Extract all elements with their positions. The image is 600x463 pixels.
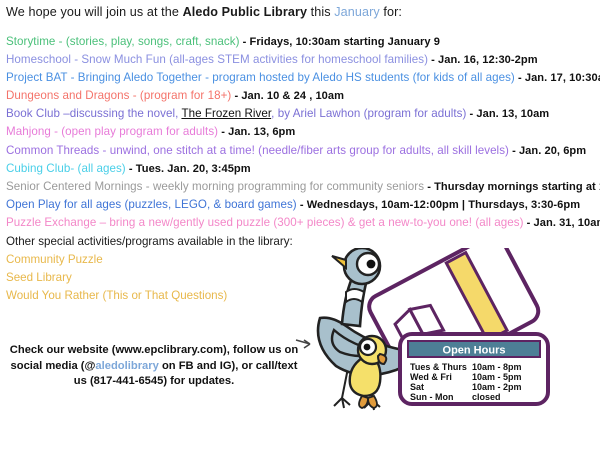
- program-detail: - Wednesdays, 10am-12:00pm | Thursdays, …: [297, 199, 580, 211]
- other-activity-item: Seed Library: [6, 269, 336, 287]
- program-row: Dungeons and Dragons - (program for 18+)…: [6, 87, 600, 105]
- hours-time-2: 10am - 2pm: [472, 382, 522, 392]
- hours-day-2: Sat: [410, 382, 424, 392]
- hours-time-1: 10am - 5pm: [472, 372, 522, 382]
- program-detail: - Jan. 13, 6pm: [218, 126, 295, 138]
- program-title: Project BAT - Bringing Aledo Together - …: [6, 71, 515, 84]
- other-activity-item: Community Puzzle: [6, 251, 336, 269]
- program-row: Storytime - (stories, play, songs, craft…: [6, 33, 600, 51]
- intro-month: January: [334, 5, 380, 19]
- program-title-post: , by Ariel Lawhon (program for adults): [271, 107, 466, 120]
- footer-line-2: social media (@aledolibrary on FB and IG…: [4, 359, 304, 375]
- pigeon-beak: [332, 256, 346, 268]
- intro-after: for:: [380, 5, 402, 19]
- program-title: Cubing Club- (all ages): [6, 162, 126, 175]
- program-row: Project BAT - Bringing Aledo Together - …: [6, 69, 600, 87]
- hours-header-label: Open Hours: [443, 345, 506, 357]
- hours-time-3: closed: [472, 392, 501, 402]
- program-detail: - Fridays, 10:30am starting January 9: [239, 36, 439, 48]
- footer-line2-pre: social media (@: [11, 360, 96, 372]
- library-name: Aledo Public Library: [183, 5, 307, 19]
- hours-day-0: Tues & Thurs: [410, 362, 467, 372]
- intro-before: We hope you will join us at the: [6, 5, 183, 19]
- footer-line-1: Check our website (www.epclibrary.com), …: [4, 343, 304, 359]
- program-row: Book Club –discussing the novel, The Fro…: [6, 105, 600, 123]
- program-title: Mahjong - (open play program for adults): [6, 125, 218, 138]
- program-detail: - Jan. 16, 12:30-2pm: [428, 54, 538, 66]
- footer-line-3: us (817-441-6545) for updates.: [4, 374, 304, 390]
- library-card-and-birds-illustration: Open Hours Tues & Thurs 10am - 8pm Wed &…: [290, 248, 600, 438]
- program-title-pre: Book Club –discussing the novel,: [6, 107, 181, 120]
- hours-day-3: Sun - Mon: [410, 392, 454, 402]
- program-row: Open Play for all ages (puzzles, LEGO, &…: [6, 196, 600, 214]
- program-detail: - Jan. 17, 10:30am: [515, 72, 600, 84]
- open-hours-panel: Open Hours Tues & Thurs 10am - 8pm Wed &…: [400, 334, 548, 404]
- program-row: Cubing Club- (all ages) - Tues. Jan. 20,…: [6, 160, 600, 178]
- pointer-arrow-icon: [296, 340, 310, 348]
- program-row: Mahjong - (open play program for adults)…: [6, 123, 600, 141]
- program-title: Puzzle Exchange – bring a new/gently use…: [6, 216, 524, 229]
- pigeon-leg-left: [334, 368, 350, 408]
- program-list: Storytime - (stories, play, songs, craft…: [6, 33, 600, 232]
- program-title: Storytime - (stories, play, songs, craft…: [6, 35, 239, 48]
- other-activities-heading: Other special activities/programs availa…: [6, 235, 293, 248]
- pigeon-pupil: [367, 260, 376, 269]
- program-detail: - Jan. 13, 10am: [466, 108, 549, 120]
- footer-line2-post: on FB and IG), or call/text: [159, 360, 298, 372]
- program-detail: - Jan. 20, 6pm: [509, 145, 586, 157]
- program-detail: - Tues. Jan. 20, 3:45pm: [126, 163, 251, 175]
- program-title: Homeschool - Snow Much Fun (all-ages STE…: [6, 53, 428, 66]
- intro-middle: this: [307, 5, 334, 19]
- duckling-foot-right: [368, 396, 377, 408]
- duckling-pupil: [364, 344, 371, 351]
- other-activity-item: Would You Rather (This or That Questions…: [6, 287, 336, 305]
- other-activities-list: Community PuzzleSeed LibraryWould You Ra…: [6, 251, 336, 305]
- program-title: Open Play for all ages (puzzles, LEGO, &…: [6, 198, 297, 211]
- social-handle: aledolibrary: [95, 360, 158, 372]
- book-title: The Frozen River: [181, 107, 271, 120]
- program-row: Homeschool - Snow Much Fun (all-ages STE…: [6, 51, 600, 69]
- program-detail: - Thursday mornings starting at 10am: [424, 181, 600, 193]
- pigeon-neck-band: [346, 289, 364, 302]
- program-row: Puzzle Exchange – bring a new/gently use…: [6, 214, 600, 232]
- program-title: Senior Centered Mornings - weekly mornin…: [6, 180, 424, 193]
- hours-time-0: 10am - 8pm: [472, 362, 522, 372]
- illustration-area: Open Hours Tues & Thurs 10am - 8pm Wed &…: [290, 248, 600, 438]
- intro-line: We hope you will join us at the Aledo Pu…: [6, 5, 402, 19]
- program-row: Senior Centered Mornings - weekly mornin…: [6, 178, 600, 196]
- program-detail: - Jan. 10 & 24 , 10am: [231, 90, 344, 102]
- program-row: Common Threads - unwind, one stitch at a…: [6, 142, 600, 160]
- program-title: Dungeons and Dragons - (program for 18+): [6, 89, 231, 102]
- contact-footer: Check our website (www.epclibrary.com), …: [4, 343, 304, 390]
- program-detail: - Jan. 31, 10am: [524, 217, 600, 229]
- program-title: Common Threads - unwind, one stitch at a…: [6, 144, 509, 157]
- duckling-beak: [378, 354, 386, 364]
- program-title: Book Club –discussing the novel, The Fro…: [6, 107, 466, 120]
- hours-day-1: Wed & Fri: [410, 372, 452, 382]
